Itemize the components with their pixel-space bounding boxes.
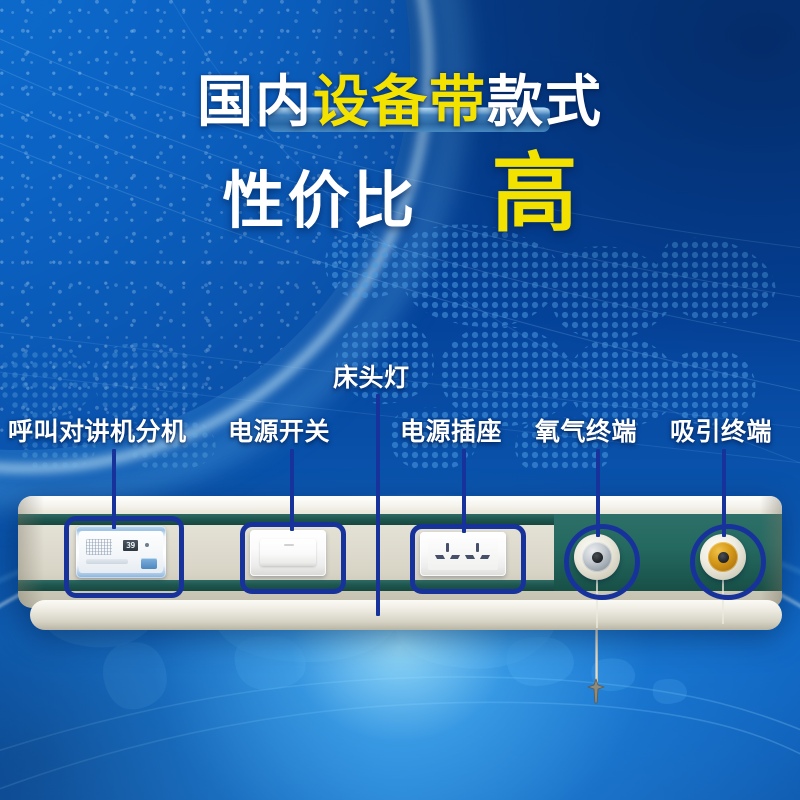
label-power-socket: 电源插座 [400,412,502,448]
label-oxygen-terminal: 氧气终端 [535,412,637,448]
product-banner: 国内设备带款式 性价比高 呼叫对讲机分机 电源开关 床头灯 电源插座 氧气终端 … [0,0,800,800]
value-ratio-text: 性价比 [222,150,417,240]
label-suction-terminal: 吸引终端 [670,412,772,448]
headline-seg-1: 国内 [197,70,313,135]
headline-block: 国内设备带款式 [0,74,800,133]
label-bed-head-lamp: 床头灯 [333,358,410,394]
label-nurse-call-intercom: 呼叫对讲机分机 [8,412,187,448]
gao-emphasis-text: 高 [492,154,578,236]
headline-seg-3: 款式 [487,70,603,135]
headline-seg-2-highlight: 设备带 [313,70,487,135]
headline-line-1: 国内设备带款式 [0,74,800,133]
label-power-switch: 电源开关 [228,412,330,448]
headline-line-2: 性价比高 [0,150,800,240]
